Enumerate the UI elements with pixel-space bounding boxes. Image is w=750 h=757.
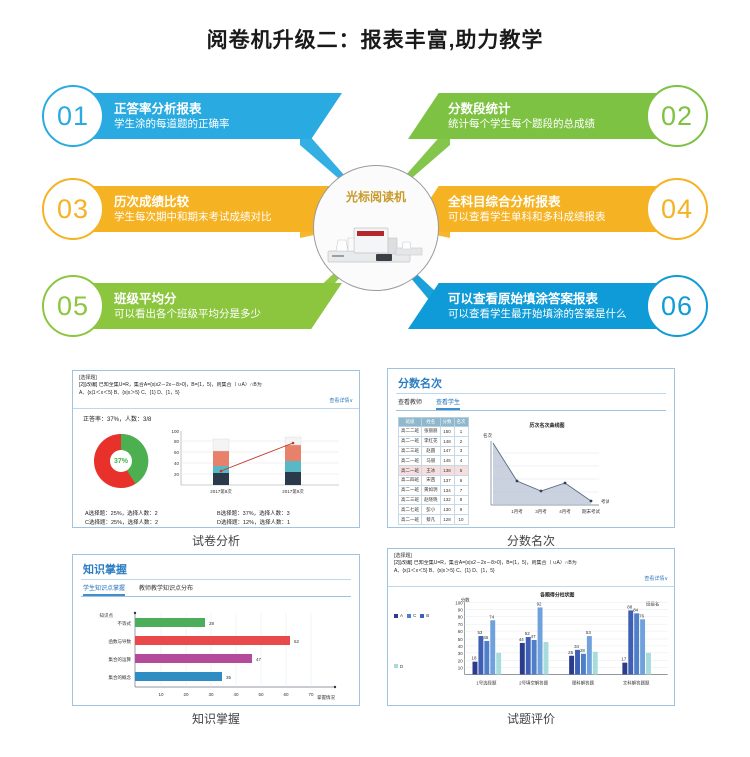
feature-item-06[interactable]: 06 可以查看原始填涂答案报表 可以查看学生最开始填涂的答案是什么 [408,275,708,337]
feature-subtitle-02: 统计每个学生每个题段的总成绩 [448,117,636,131]
svg-text:1号选择题: 1号选择题 [477,679,498,686]
table-row[interactable]: 高二一班马丽1454 [399,456,469,466]
feature-number-01: 01 [42,85,104,147]
feature-diagram: 01 正答率分析报表 学生涂的每道题的正确率 02 分数段统计 统计每个学生每个… [0,70,750,360]
col-rank: 名次 [454,418,468,427]
donut-center-label: 37% [114,458,129,465]
feature-banner-04: 全科目综合分析报表 可以查看学生单科和多科成绩报表 [408,186,664,232]
svg-text:25: 25 [569,650,574,655]
feature-number-06: 06 [646,275,708,337]
report-screenshots: [选择题] [2][改编] 已知全集U=R，集合A={x|x2－2x－8>0}，… [0,362,750,742]
feature-subtitle-04: 可以查看学生单科和多科成绩报表 [448,210,636,224]
svg-text:28: 28 [209,621,215,626]
table-cell: 宋茜 [422,475,441,485]
panel-item-eval[interactable]: [选择题] [2][改编] 已知全集U=R，集合A={x|x2－2x－8>0}，… [387,548,675,706]
svg-text:2017第8次: 2017第8次 [210,488,232,495]
col-class: 班级 [399,418,422,427]
view-detail-link[interactable]: 查看详情∨ [79,397,353,405]
svg-text:理科解答题: 理科解答题 [572,679,595,686]
table-cell: 10 [454,515,468,525]
feature-item-04[interactable]: 04 全科目综合分析报表 可以查看学生单科和多科成绩报表 [408,178,708,240]
table-cell: 134 [440,485,454,495]
question-line-2: A、{x|1＜x＜5} B、{x|x＞5} C、{1} D、{1，5} [394,568,668,576]
svg-text:2号填空解答题: 2号填空解答题 [520,679,550,686]
svg-text:80: 80 [458,614,463,619]
correct-rate-text: 正答率：37%，人数：3/8 [73,409,359,423]
score-rank-table: 班级 姓名 分数 名次 高二二班张丽丽1501高二一班李红花1482高二三班赵圆… [398,417,469,525]
score-rank-heading: 分数名次 [388,369,674,393]
feature-banner-01: 正答率分析报表 学生涂的每道题的正确率 [86,93,342,139]
feature-banner-02: 分数段统计 统计每个学生每个题段的总成绩 [408,93,664,139]
svg-text:4月考: 4月考 [559,509,571,515]
svg-text:函数与导数: 函数与导数 [109,638,132,645]
svg-text:44: 44 [519,637,524,642]
table-row[interactable]: 高二七班彭小1309 [399,505,469,515]
table-cell: 137 [440,475,454,485]
legend-swatch-d [394,664,398,668]
svg-text:100: 100 [456,600,464,605]
feature-title-02: 分数段统计 [448,102,636,117]
svg-text:40: 40 [458,644,463,649]
table-cell: 1 [454,427,468,437]
table-cell: 李红花 [422,436,441,446]
table-cell: 高二二班 [399,427,422,437]
tab-view-student[interactable]: 查看学生 [436,397,460,410]
option-stat-c: C选择题：25%，选择人数：2 [85,519,217,528]
feature-number-02: 02 [646,85,708,147]
svg-text:35: 35 [226,675,232,680]
feature-number-04: 04 [646,178,708,240]
omr-scanner-device-icon [324,218,428,268]
table-row[interactable]: 高二一班李红花1482 [399,436,469,446]
score-rank-tabs[interactable]: 查看教师 查看学生 [388,394,674,410]
feature-item-02[interactable]: 02 分数段统计 统计每个学生每个题段的总成绩 [408,85,708,147]
table-cell: 高二一班 [399,436,422,446]
table-row[interactable]: 高二四班宋茜1376 [399,475,469,485]
table-cell: 王冰 [422,466,441,476]
feature-number-05: 05 [42,275,104,337]
feature-subtitle-06: 可以查看学生最开始填涂的答案是什么 [448,307,636,321]
legend-label-c: C [413,613,416,618]
question-line-1: [2][改编] 已知全集U=R，集合A={x|x2－2x－8>0}，B=(1，5… [394,560,668,568]
table-cell: 马丽 [422,456,441,466]
svg-text:28: 28 [580,648,585,653]
table-cell: 高二一班 [399,515,422,525]
svg-text:50: 50 [258,692,264,697]
table-row[interactable]: 高二一班蔡凡12810 [399,515,469,525]
svg-text:50: 50 [458,637,463,642]
rank-chart-xlabel: 考试 [601,498,609,505]
option-stat-b: B选择题：37%，选择人数：3 [217,510,349,519]
svg-text:74: 74 [490,614,495,619]
table-cell: 黄如玥 [422,485,441,495]
hub-circle: 光标阅读机 [313,165,439,291]
table-cell: 高二一班 [399,456,422,466]
table-cell: 150 [440,427,454,437]
table-cell: 蔡凡 [422,515,441,525]
paper-analysis-charts: 37% 100 80 60 40 20 [73,423,359,501]
table-row[interactable]: 高二三班赵圆1473 [399,446,469,456]
svg-text:46: 46 [484,635,489,640]
table-row[interactable]: 高二三班赵晓晓1328 [399,495,469,505]
feature-subtitle-03: 学生每次期中和期末考试成绩对比 [114,210,308,224]
tabs-divider [81,596,351,597]
svg-text:1月考: 1月考 [511,509,523,515]
legend-label-d: D [400,664,403,669]
panel-paper-analysis[interactable]: [选择题] [2][改编] 已知全集U=R，集合A={x|x2－2x－8>0}，… [72,370,360,528]
table-cell: 145 [440,456,454,466]
svg-text:34: 34 [574,644,579,649]
svg-text:60: 60 [283,692,289,697]
svg-text:不等式: 不等式 [118,620,132,627]
feature-title-06: 可以查看原始填涂答案报表 [448,292,636,307]
svg-text:集合的概念: 集合的概念 [109,674,132,681]
option-distribution-stacked-chart: 100 80 60 40 20 2017第8次 2017第9次 [171,429,339,495]
table-cell: 高二一班 [399,466,422,476]
svg-text:集合的运算: 集合的运算 [109,656,132,663]
item-chart-title: 各题得分柱状图 [539,592,574,599]
svg-text:60: 60 [174,450,180,455]
table-cell: 3 [454,446,468,456]
svg-text:100: 100 [171,429,179,434]
feature-banner-06: 可以查看原始填涂答案报表 可以查看学生最开始填涂的答案是什么 [408,283,664,329]
table-row[interactable]: 高二二班张丽丽1501 [399,427,469,437]
svg-text:30: 30 [208,692,214,697]
knowledge-mastery-chart: 知识点 28 不等式 62 函数与导数 47 集合的运算 35 集合的概念 10 [73,601,359,709]
table-cell: 高二三班 [399,446,422,456]
svg-text:30: 30 [458,651,463,656]
panel-score-rank[interactable]: 分数名次 查看教师 查看学生 班级 姓名 分数 名次 高二二班张丽丽1501高二… [387,368,675,528]
legend-label-a: A [400,613,403,618]
legend-item-a: A [394,591,403,641]
svg-text:40: 40 [174,461,180,466]
item-score-grouped-chart: 各题得分柱状图 班级名 分数 102030 405060 708090 100 [439,587,674,691]
option-stat-a: A选择题：25%，选择人数：2 [85,510,217,519]
bar-group-4: 17 88 84 76 文科解答题题 [622,604,652,686]
caption-item-eval: 试题评价 [387,710,675,727]
feature-subtitle-01: 学生涂的每道题的正确率 [114,117,308,131]
knowledge-xlabel: 掌握情况 [317,694,335,701]
legend-label-b: B [426,613,429,618]
svg-text:期末考试: 期末考试 [582,508,600,515]
legend-item-c: C [407,591,416,641]
legend-item-b: B [420,591,429,641]
table-cell: 138 [440,466,454,476]
svg-text:84: 84 [634,607,639,612]
svg-text:92: 92 [537,601,542,606]
table-cell: 张丽丽 [422,427,441,437]
question-box: [选择题] [2][改编] 已知全集U=R，集合A={x|x2－2x－8>0}，… [388,549,674,587]
svg-text:70: 70 [308,692,314,697]
legend-swatch-a [394,614,398,618]
table-cell: 128 [440,515,454,525]
feature-banner-03: 历次成绩比较 学生每次期中和期末考试成绩对比 [86,186,342,232]
table-cell: 高二一班 [399,485,422,495]
table-cell: 2 [454,436,468,446]
table-cell: 彭小 [422,505,441,515]
feature-banner-05: 班级平均分 可以看出各个班级平均分是多少 [86,283,342,329]
table-cell: 5 [454,466,468,476]
svg-text:20: 20 [458,659,463,664]
legend-swatch-c [407,614,411,618]
feature-title-05: 班级平均分 [114,292,308,307]
bar-group-2: 44 52 47 92 2号填空解答题 [519,601,549,686]
svg-text:62: 62 [294,639,300,644]
tab-view-teacher[interactable]: 查看教师 [398,397,422,410]
table-cell: 9 [454,505,468,515]
feature-title-01: 正答率分析报表 [114,102,308,117]
feature-subtitle-05: 可以看出各个班级平均分是多少 [114,307,308,321]
rank-history-curve-chart: 历次名次曲线图 名次 1月考 3月考 4月考 期末考试 考试 [473,417,609,525]
bar-group-3: 25 34 28 53 理科解答题 [569,630,599,686]
svg-text:47: 47 [531,634,536,639]
table-cell: 高二七班 [399,505,422,515]
table-cell: 6 [454,475,468,485]
table-cell: 130 [440,505,454,515]
feature-title-04: 全科目综合分析报表 [448,195,636,210]
knowledge-heading: 知识掌握 [73,555,359,579]
svg-text:文科解答题题: 文科解答题题 [623,679,650,686]
page-title: 阅卷机升级二：报表丰富,助力教学 [0,24,750,54]
svg-text:17: 17 [622,657,627,662]
svg-text:53: 53 [478,630,483,635]
table-cell: 7 [454,485,468,495]
question-tag: [选择题] [394,553,668,560]
feature-item-05[interactable]: 05 班级平均分 可以看出各个班级平均分是多少 [42,275,342,337]
table-cell: 148 [440,436,454,446]
correct-rate-donut-chart: 37% [94,434,148,488]
svg-text:52: 52 [525,631,530,636]
svg-text:70: 70 [458,622,463,627]
table-header-row: 班级 姓名 分数 名次 [399,418,469,427]
svg-text:80: 80 [174,439,180,444]
caption-paper-analysis: 试卷分析 [72,532,360,549]
tab-teacher-knowledge[interactable]: 教师教学知识点分布 [139,583,193,596]
option-stat-d: D选择题：12%，选择人数：1 [217,519,349,528]
question-box: [选择题] [2][改编] 已知全集U=R，集合A={x|x2－2x－8>0}，… [73,371,359,409]
knowledge-ylabel: 知识点 [100,612,114,619]
svg-text:18: 18 [472,656,477,661]
item-eval-legend: A C B D [388,587,439,691]
svg-text:10: 10 [158,692,164,697]
feature-title-03: 历次成绩比较 [114,195,308,210]
table-cell: 132 [440,495,454,505]
question-tag: [选择题] [79,375,353,382]
question-line-1: [2][改编] 已知全集U=R，集合A={x|x2－2x－8>0}，B=(1，5… [79,382,353,390]
feature-item-01[interactable]: 01 正答率分析报表 学生涂的每道题的正确率 [42,85,342,147]
question-line-2: A、{x|1＜x＜5} B、{x|x＞5} C、{1} D、{1，5} [79,390,353,398]
knowledge-tabs[interactable]: 学生知识点掌握 教师教学知识点分布 [73,580,359,596]
table-row[interactable]: 高二一班王冰1385 [399,466,469,476]
svg-text:53: 53 [586,630,591,635]
table-cell: 4 [454,456,468,466]
feature-number-03: 03 [42,178,104,240]
rank-chart-ylabel: 名次 [483,432,492,439]
table-cell: 8 [454,495,468,505]
table-cell: 高二四班 [399,475,422,485]
panel-knowledge[interactable]: 知识掌握 学生知识点掌握 教师教学知识点分布 知识点 28 不等式 62 函数与… [72,554,360,706]
col-name: 姓名 [422,418,441,427]
caption-score-rank: 分数名次 [387,532,675,549]
svg-text:2017第9次: 2017第9次 [282,488,304,495]
svg-text:60: 60 [458,629,463,634]
svg-text:47: 47 [256,657,262,662]
tab-student-knowledge[interactable]: 学生知识点掌握 [83,583,125,596]
option-stats-list: A选择题：25%，选择人数：2 B选择题：37%，选择人数：3 C选择题：25%… [73,506,350,528]
table-cell: 高二三班 [399,495,422,505]
svg-text:90: 90 [458,607,463,612]
svg-text:20: 20 [183,692,189,697]
col-score: 分数 [440,418,454,427]
svg-text:76: 76 [639,613,644,618]
svg-text:40: 40 [233,692,239,697]
table-cell: 147 [440,446,454,456]
svg-text:3月考: 3月考 [535,509,547,515]
view-detail-link[interactable]: 查看详情∨ [394,575,668,583]
svg-text:20: 20 [174,472,180,477]
feature-item-03[interactable]: 03 历次成绩比较 学生每次期中和期末考试成绩对比 [42,178,342,240]
svg-text:88: 88 [628,604,633,609]
hub-label: 光标阅读机 [314,188,438,205]
table-cell: 赵晓晓 [422,495,441,505]
rank-chart-title: 历次名次曲线图 [529,422,564,429]
legend-swatch-b [420,614,424,618]
table-row[interactable]: 高二一班黄如玥1347 [399,485,469,495]
bar-group-1: 18 53 46 74 1号选择题 [472,614,502,686]
caption-knowledge: 知识掌握 [72,710,360,727]
legend-item-d: D [394,642,403,692]
svg-text:10: 10 [458,666,463,671]
table-cell: 赵圆 [422,446,441,456]
item-chart-series-note: 班级名 [646,600,659,607]
